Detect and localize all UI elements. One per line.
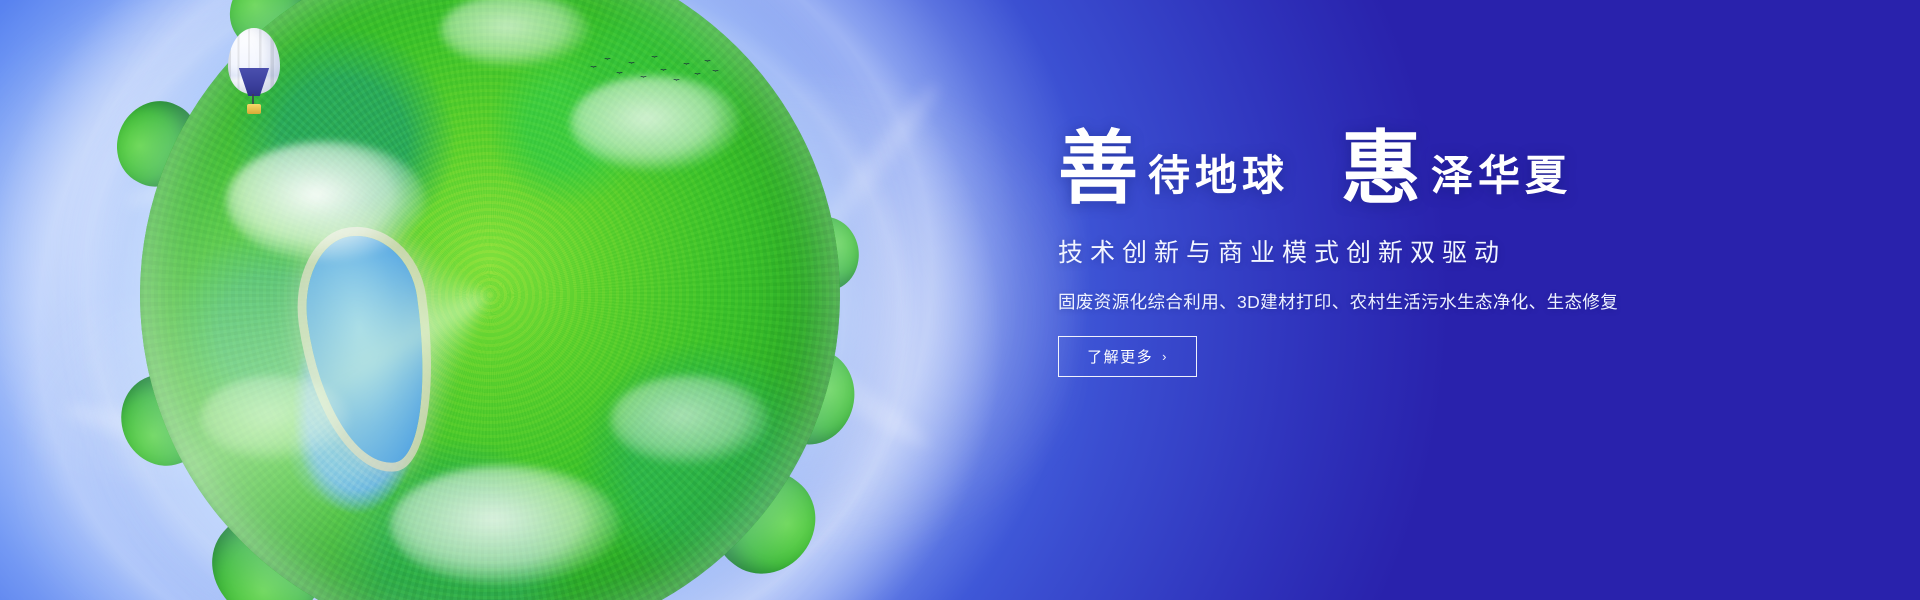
- hot-air-balloon-icon: [228, 28, 280, 116]
- bird-icon: [628, 62, 634, 65]
- learn-more-button[interactable]: 了解更多 ›: [1058, 336, 1197, 377]
- hero-tagline: 固废资源化综合利用、3D建材打印、农村生活污水生态净化、生态修复: [1058, 289, 1818, 314]
- page-title: 善 待地球 惠 泽华夏: [1058, 132, 1818, 209]
- balloon-basket: [247, 104, 261, 114]
- chevron-right-icon: ›: [1162, 349, 1168, 364]
- headline-1-big: 善: [1058, 132, 1138, 206]
- bird-icon: [616, 72, 622, 75]
- headline-phrase-1: 善 待地球: [1058, 132, 1289, 209]
- bird-icon: [712, 70, 718, 73]
- hero-copy: 善 待地球 惠 泽华夏 技术创新与商业模式创新双驱动 固废资源化综合利用、3D建…: [1058, 132, 1818, 377]
- hero-banner: 善 待地球 惠 泽华夏 技术创新与商业模式创新双驱动 固废资源化综合利用、3D建…: [0, 0, 1920, 600]
- headline-2-small: 泽华夏: [1431, 142, 1572, 203]
- headline-2-big: 惠: [1341, 132, 1421, 206]
- hero-subtitle: 技术创新与商业模式创新双驱动: [1058, 233, 1818, 269]
- bird-icon: [640, 76, 646, 79]
- bird-icon: [704, 60, 710, 63]
- bird-icon: [660, 69, 666, 72]
- bird-icon: [651, 56, 657, 59]
- bird-icon: [683, 63, 689, 66]
- bird-icon: [604, 58, 610, 61]
- bird-icon: [694, 73, 700, 76]
- bird-icon: [673, 79, 679, 82]
- bird-flock-icon: [588, 52, 718, 96]
- headline-1-small: 待地球: [1148, 142, 1289, 203]
- learn-more-label: 了解更多: [1087, 346, 1153, 367]
- headline-phrase-2: 惠 泽华夏: [1341, 132, 1572, 209]
- bird-icon: [590, 66, 596, 69]
